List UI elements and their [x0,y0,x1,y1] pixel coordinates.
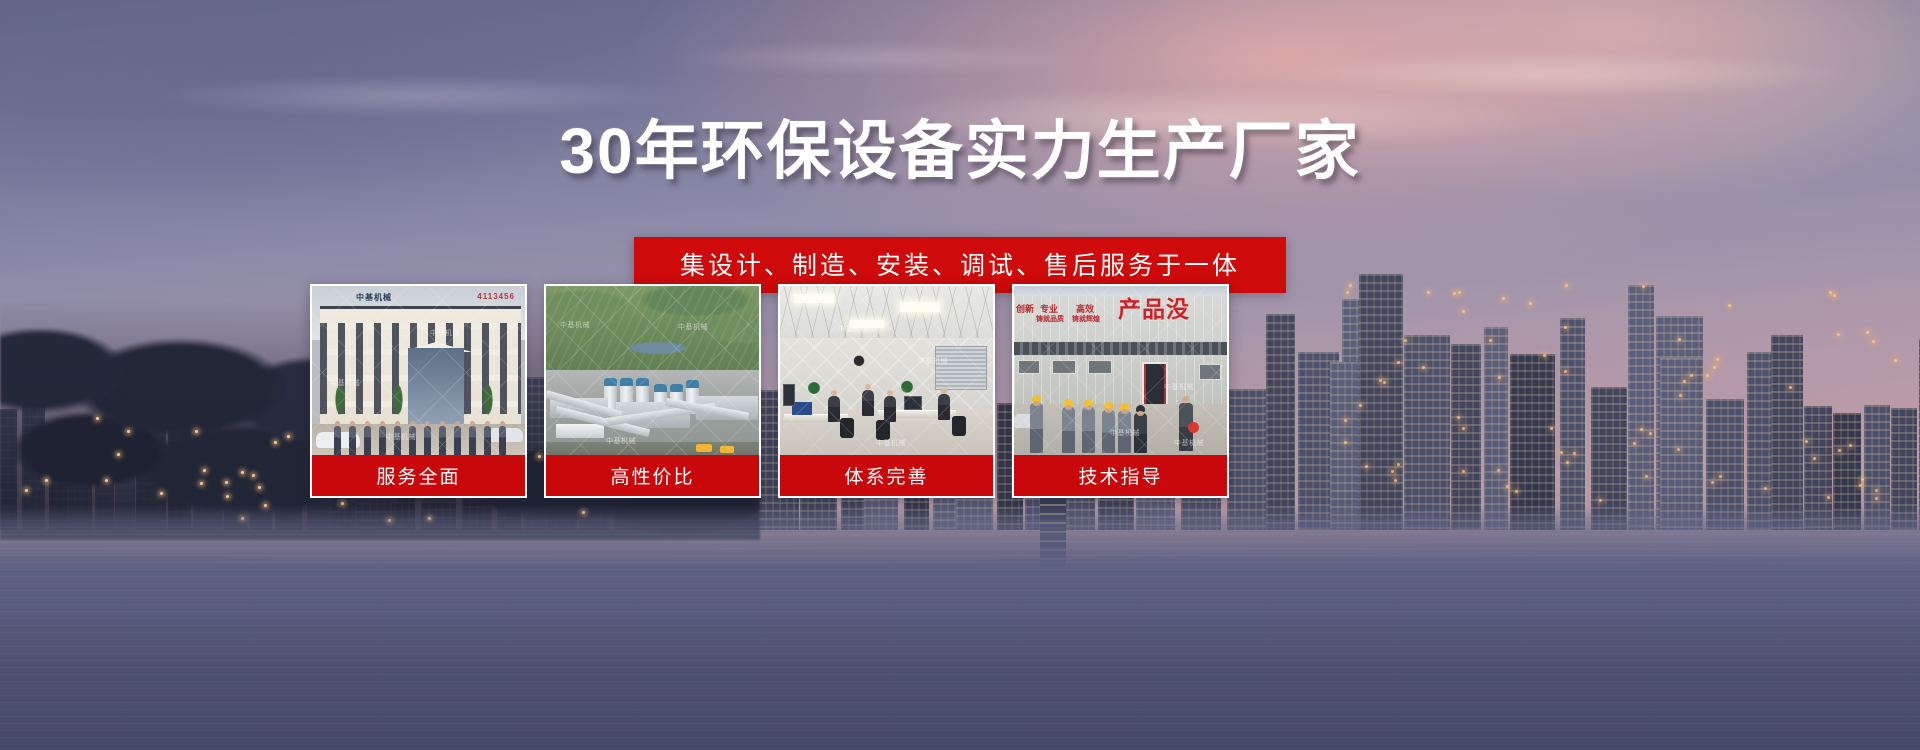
photo-slogan: 高效 [1076,304,1094,314]
photo-window [1199,364,1221,380]
photo-shed [556,424,604,438]
photo-staff-member [379,426,386,456]
photo-worker [1030,403,1043,453]
feature-card[interactable]: 中基机械 中基机械 中基机械 体系完善 [778,284,995,498]
photo-window [1018,360,1040,374]
feature-card-caption: 高性价比 [546,455,759,496]
photo-staff-member [454,426,461,456]
feature-card-thumbnail: 中基机械 4113456 中基机械 中基机械 中基机械 [312,286,525,459]
photo-chair [840,418,854,438]
photo-slogan: 铸就辉煌 [1072,316,1100,324]
photo-chair [952,416,966,436]
photo-wall-logo [842,352,876,374]
photo-monitor [792,402,812,415]
photo-window-blinds [935,346,987,390]
photo-person [938,394,950,420]
photo-staff-member [334,426,341,456]
banner-content: 30年环保设备实力生产厂家 集设计、制造、安装、调试、售后服务于一体 中基机械 … [0,0,1920,750]
photo-worker [1134,413,1147,453]
feature-card[interactable]: 中基机械 4113456 中基机械 中基机械 中基机械 [310,284,527,498]
photo-chair [876,420,890,440]
photo-slogan: 创新 [1016,304,1034,314]
photo-pond [630,342,686,354]
photo-staff-member [439,426,446,456]
photo-staff-member [469,426,476,456]
photo-red-helmet [1188,422,1199,433]
feature-card[interactable]: 中基机械 中基机械 中基机械 高性价比 [544,284,761,498]
photo-entrance-glass [408,348,464,424]
photo-staff-member [409,426,416,456]
photo-light-panel [900,302,940,312]
photo-person [828,396,840,422]
photo-wall-band [1014,342,1227,355]
feature-card-thumbnail: 中基机械 中基机械 中基机械 [546,286,759,459]
hero-banner: 30年环保设备实力生产厂家 集设计、制造、安装、调试、售后服务于一体 中基机械 … [0,0,1920,750]
photo-factory-sign: 产品没 [1118,298,1190,321]
feature-card-caption: 技术指导 [1014,455,1227,496]
photo-worker [1102,410,1115,453]
photo-worker [1118,411,1131,453]
feature-card-list: 中基机械 4113456 中基机械 中基机械 中基机械 [310,284,1610,498]
photo-staff-member [364,426,371,456]
page-title: 30年环保设备实力生产厂家 [0,100,1920,192]
photo-staff-member [394,426,401,456]
photo-light-panel [850,320,884,328]
photo-window [1088,360,1112,374]
feature-card-caption: 服务全面 [312,455,525,496]
feature-card-caption: 体系完善 [780,455,993,496]
photo-staff-member [349,426,356,456]
photo-slogan: 专业 [1040,304,1058,314]
feature-card-thumbnail: 产品没 创新 专业 铸就品质 高效 铸就辉煌 [1014,286,1227,459]
photo-truck [720,446,734,453]
photo-potted-plant [804,380,824,400]
photo-factory-door [1142,362,1168,408]
photo-light-panel [794,294,834,303]
feature-card[interactable]: 产品没 创新 专业 铸就品质 高效 铸就辉煌 [1012,284,1229,498]
photo-truck [696,444,712,452]
photo-worker [1062,407,1075,453]
photo-staff-row [334,414,510,456]
photo-person [862,390,874,416]
photo-staff-member [484,426,491,456]
photo-slogan: 铸就品质 [1036,316,1064,324]
photo-worker [1082,407,1095,453]
photo-partition [783,384,795,406]
feature-card-thumbnail: 中基机械 中基机械 中基机械 [780,286,993,459]
photo-staff-member [424,426,431,456]
photo-company-sign: 中基机械 [356,292,392,303]
photo-window [1052,360,1076,374]
photo-staff-member [499,426,506,456]
photo-monitor [904,396,922,410]
photo-phone-sign: 4113456 [477,292,515,301]
photo-farmland [546,286,759,382]
photo-person [884,396,896,422]
